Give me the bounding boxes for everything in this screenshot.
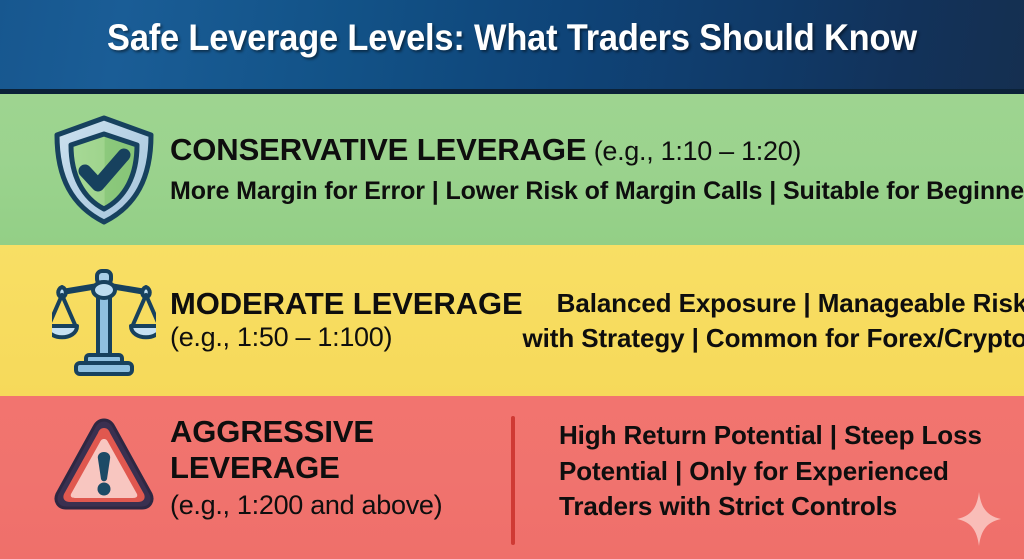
moderate-left-block: MODERATE LEVERAGE (e.g., 1:50 – 1:100) — [170, 286, 523, 355]
moderate-description-line-2: with Strategy | Common for Forex/Crypto — [523, 321, 1024, 356]
page-title: Safe Leverage Levels: What Traders Shoul… — [36, 17, 988, 59]
infographic-root: Safe Leverage Levels: What Traders Shoul… — [0, 0, 1024, 559]
aggressive-title-line-2: LEVERAGE — [170, 450, 340, 486]
warning-triangle-icon-wrap — [0, 396, 170, 514]
conservative-text-block: CONSERVATIVE LEVERAGE (e.g., 1:10 – 1:20… — [170, 134, 1024, 206]
moderate-range: (e.g., 1:50 – 1:100) — [170, 321, 392, 355]
aggressive-description-line-1: High Return Potential | Steep Loss — [559, 418, 982, 454]
conservative-description: More Margin for Error | Lower Risk of Ma… — [170, 177, 1024, 206]
moderate-description-block: Balanced Exposure | Manageable Risk with… — [523, 286, 1024, 356]
balance-scales-icon-wrap — [0, 265, 170, 377]
conservative-heading: CONSERVATIVE LEVERAGE (e.g., 1:10 – 1:20… — [170, 134, 801, 165]
conservative-title: CONSERVATIVE LEVERAGE — [170, 132, 586, 167]
shield-check-icon-wrap — [0, 114, 170, 226]
conservative-range: (e.g., 1:10 – 1:20) — [594, 136, 801, 166]
sparkle-icon — [955, 492, 1003, 546]
moderate-description-line-1: Balanced Exposure | Manageable Risk — [557, 286, 1024, 321]
aggressive-range: (e.g., 1:200 and above) — [170, 488, 442, 523]
row-conservative-leverage: CONSERVATIVE LEVERAGE (e.g., 1:10 – 1:20… — [0, 94, 1024, 245]
aggressive-left-block: AGGRESSIVE LEVERAGE (e.g., 1:200 and abo… — [170, 396, 490, 523]
aggressive-title-line-1: AGGRESSIVE — [170, 414, 374, 450]
moderate-title: MODERATE LEVERAGE — [170, 286, 523, 322]
balance-scales-icon — [52, 265, 156, 377]
aggressive-vertical-divider — [511, 416, 515, 545]
aggressive-description-line-2: Potential | Only for Experienced — [559, 454, 949, 490]
aggressive-description-line-3: Traders with Strict Controls — [559, 489, 897, 525]
warning-triangle-icon — [50, 414, 158, 514]
row-moderate-leverage: MODERATE LEVERAGE (e.g., 1:50 – 1:100) B… — [0, 245, 1024, 396]
aggressive-description-block: High Return Potential | Steep Loss Poten… — [490, 396, 1024, 525]
shield-check-icon — [52, 114, 156, 226]
